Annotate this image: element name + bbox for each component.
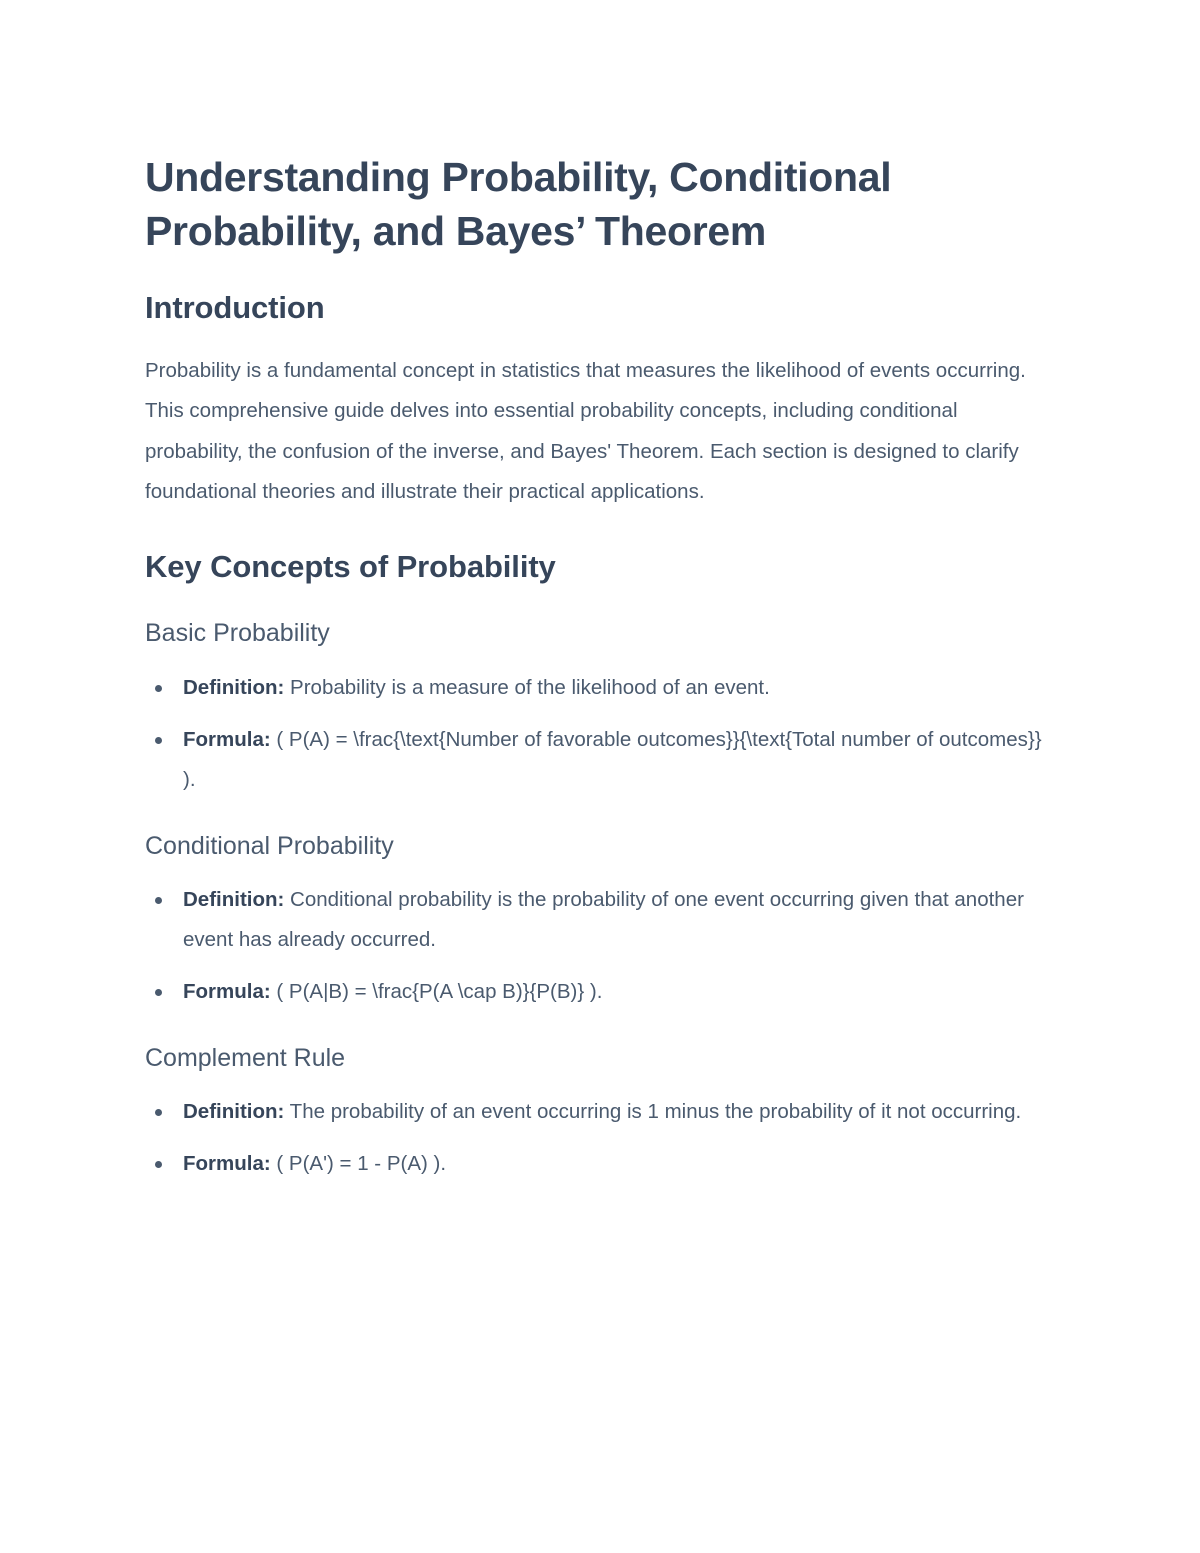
introduction-paragraph: Probability is a fundamental concept in …: [145, 351, 1050, 513]
list-item-term: Definition:: [183, 676, 284, 699]
document-page: Understanding Probability, Conditional P…: [0, 0, 1200, 1553]
list-item-text: Conditional probability is the probabili…: [183, 888, 1024, 951]
list-item-term: Definition:: [183, 888, 284, 911]
subsection-heading-basic-probability: Basic Probability: [145, 617, 1050, 650]
list-item-text: Probability is a measure of the likeliho…: [284, 676, 769, 699]
list-item-text: ( P(A') = 1 - P(A) ).: [271, 1152, 446, 1175]
subsection-heading-complement-rule: Complement Rule: [145, 1042, 1050, 1075]
subsection-heading-conditional-probability: Conditional Probability: [145, 830, 1050, 863]
list-item-term: Formula:: [183, 728, 271, 751]
list-item-term: Formula:: [183, 1152, 271, 1175]
list-item-text: ( P(A|B) = \frac{P(A \cap B)}{P(B)} ).: [271, 980, 603, 1003]
list-item-term: Formula:: [183, 980, 271, 1003]
section-heading-key-concepts: Key Concepts of Probability: [145, 547, 1050, 587]
list-item-term: Definition:: [183, 1100, 284, 1123]
list-item: Definition: Probability is a measure of …: [145, 668, 1050, 708]
list-item: Formula: ( P(A') = 1 - P(A) ).: [145, 1144, 1050, 1184]
list-item-text: The probability of an event occurring is…: [284, 1100, 1021, 1123]
bullet-list-complement-rule: Definition: The probability of an event …: [145, 1092, 1050, 1184]
list-item-text: ( P(A) = \frac{\text{Number of favorable…: [183, 728, 1042, 791]
bullet-list-conditional-probability: Definition: Conditional probability is t…: [145, 880, 1050, 1012]
list-item: Formula: ( P(A) = \frac{\text{Number of …: [145, 720, 1050, 800]
section-heading-introduction: Introduction: [145, 288, 1050, 328]
page-title: Understanding Probability, Conditional P…: [145, 150, 1050, 258]
list-item: Definition: Conditional probability is t…: [145, 880, 1050, 960]
list-item: Formula: ( P(A|B) = \frac{P(A \cap B)}{P…: [145, 972, 1050, 1012]
list-item: Definition: The probability of an event …: [145, 1092, 1050, 1132]
bullet-list-basic-probability: Definition: Probability is a measure of …: [145, 668, 1050, 800]
